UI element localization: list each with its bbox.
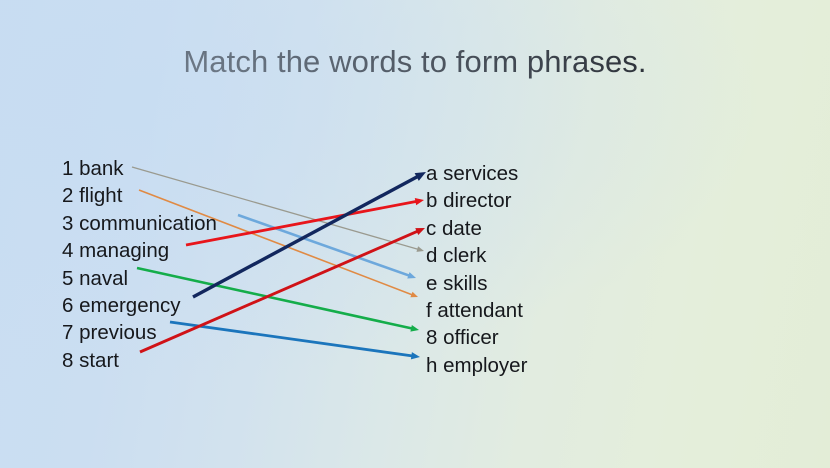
left-item-8[interactable]: 8 start (62, 347, 217, 374)
left-item-2[interactable]: 2 flight (62, 182, 217, 209)
right-item-d[interactable]: d clerk (426, 242, 527, 269)
left-item-6[interactable]: 6 emergency (62, 292, 217, 319)
connector-bank-to-clerk-arrowhead-icon (416, 246, 424, 252)
right-item-b[interactable]: b director (426, 187, 527, 214)
connector-naval-to-officer-arrowhead-icon (410, 325, 419, 332)
right-item-f[interactable]: f attendant (426, 297, 527, 324)
page-title: Match the words to form phrases. (0, 44, 830, 80)
left-item-3[interactable]: 3 communication (62, 210, 217, 237)
connector-start-to-date-arrowhead-icon (415, 228, 425, 235)
left-item-1[interactable]: 1 bank (62, 155, 217, 182)
connector-communication-to-skills (238, 215, 411, 276)
right-item-h[interactable]: h employer (426, 352, 527, 379)
connector-previous-to-employer-arrowhead-icon (411, 352, 420, 359)
right-item-e[interactable]: e skills (426, 270, 527, 297)
connector-managing-to-director-arrowhead-icon (415, 198, 424, 205)
left-item-5[interactable]: 5 naval (62, 265, 217, 292)
left-item-4[interactable]: 4 managing (62, 237, 217, 264)
connector-emergency-to-services-arrowhead-icon (415, 172, 426, 181)
right-words-column: a services b director c date d clerk e s… (426, 160, 527, 379)
right-item-g[interactable]: 8 officer (426, 324, 527, 351)
left-item-7[interactable]: 7 previous (62, 319, 217, 346)
left-words-column: 1 bank 2 flight 3 communication 4 managi… (62, 155, 217, 374)
connector-flight-to-attendant-arrowhead-icon (410, 292, 418, 297)
right-item-a[interactable]: a services (426, 160, 527, 187)
connector-communication-to-skills-arrowhead-icon (407, 272, 416, 278)
right-item-c[interactable]: c date (426, 215, 527, 242)
connector-managing-to-director (186, 201, 418, 245)
slide-canvas: Match the words to form phrases. 1 bank … (0, 0, 830, 468)
connector-emergency-to-services (193, 176, 419, 297)
